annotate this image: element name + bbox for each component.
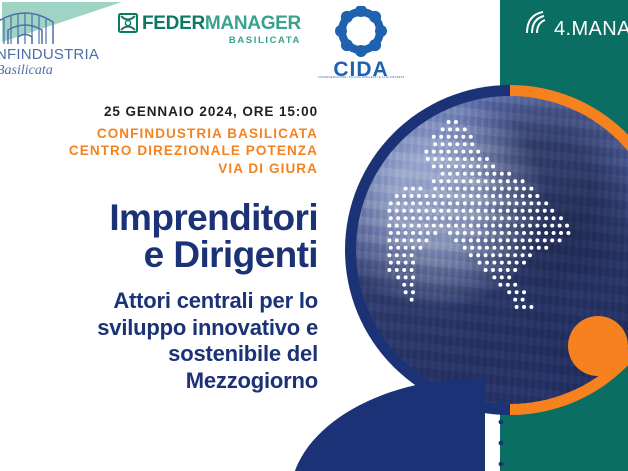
federmanager-region: BASILICATA (118, 35, 301, 46)
4manager-wordmark: 4.MANAGER (554, 19, 628, 39)
logo-cida: CIDA CONFEDERAZIONE ITALIANA DIRIGENTI E… (318, 6, 404, 86)
confindustria-wordmark: NFINDUSTRIA (0, 46, 99, 63)
confindustria-arch-icon (0, 8, 56, 46)
event-subtitle-line-2: sviluppo innovativo e (8, 315, 318, 342)
event-text-block: 25 GENNAIO 2024, ORE 15:00 CONFINDUSTRIA… (8, 104, 318, 395)
navy-dot-grid (445, 395, 507, 467)
confindustria-region: Basilicata (0, 63, 53, 79)
event-venue-line-3: VIA DI GIURA (8, 160, 318, 177)
event-title-line-1: Imprenditori (8, 199, 318, 236)
federmanager-knot-icon (118, 13, 138, 33)
event-venue: CONFINDUSTRIA BASILICATA CENTRO DIREZION… (8, 125, 318, 177)
cida-gear-icon (318, 6, 404, 58)
4manager-signal-icon (523, 9, 553, 39)
logo-confindustria-basilicata: NFINDUSTRIA Basilicata (0, 2, 90, 82)
event-subtitle: Attori centrali per lo sviluppo innovati… (8, 288, 318, 395)
event-subtitle-line-3: sostenibile del (8, 341, 318, 368)
event-title-line-2: e Dirigenti (8, 236, 318, 273)
event-poster: NFINDUSTRIA Basilicata FEDER MANAGER BAS… (0, 0, 628, 471)
event-subtitle-line-1: Attori centrali per lo (8, 288, 318, 315)
event-venue-line-1: CONFINDUSTRIA BASILICATA (8, 125, 318, 142)
event-title: Imprenditori e Dirigenti (8, 199, 318, 273)
orange-circle-accent (568, 316, 628, 376)
federmanager-word-bold: FEDER (142, 14, 205, 33)
logo-4manager: 4.MANAGER (523, 9, 628, 49)
event-subtitle-line-4: Mezzogiorno (8, 368, 318, 395)
logo-federmanager: FEDER MANAGER BASILICATA (118, 13, 301, 46)
cida-tagline: CONFEDERAZIONE ITALIANA DIRIGENTI E ALTE… (318, 76, 404, 79)
federmanager-word-light: MANAGER (205, 14, 301, 33)
event-venue-line-2: CENTRO DIREZIONALE POTENZA (8, 142, 318, 159)
event-date: 25 GENNAIO 2024, ORE 15:00 (8, 104, 318, 119)
